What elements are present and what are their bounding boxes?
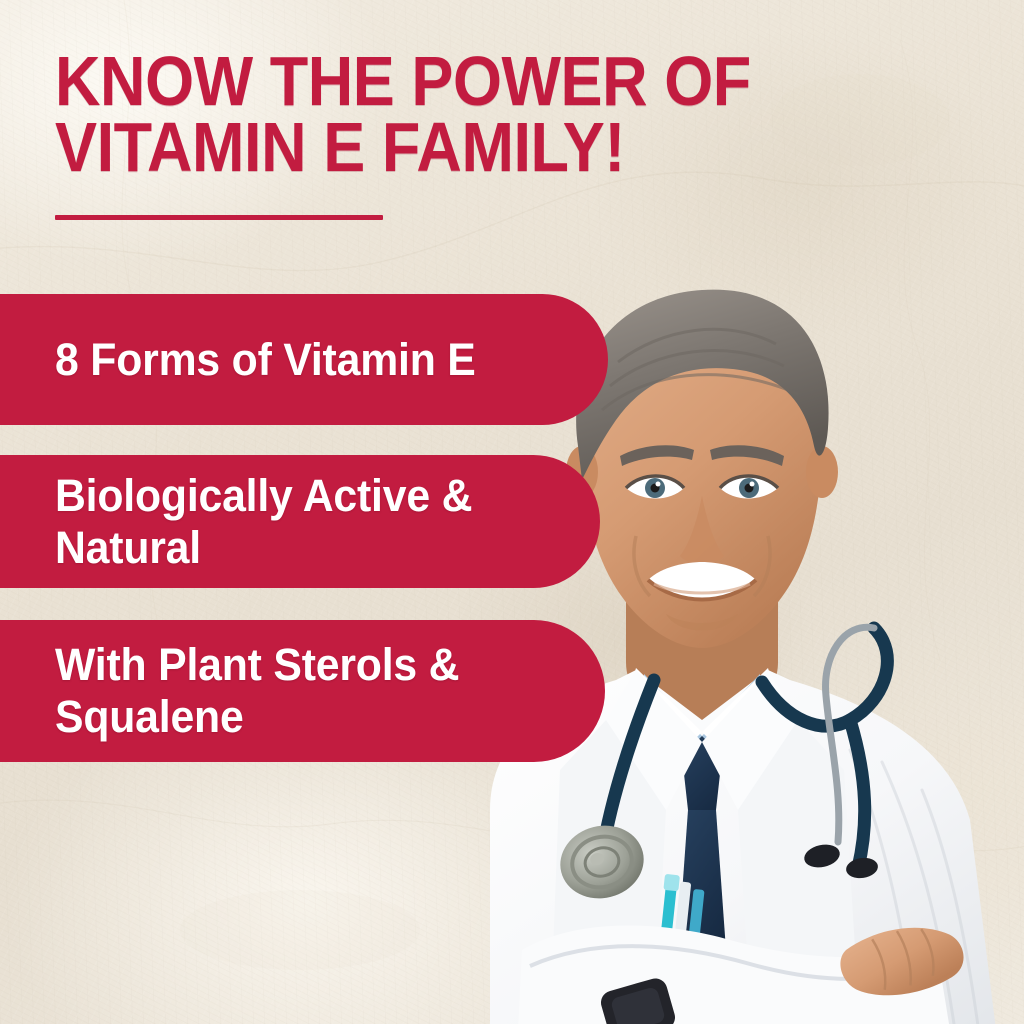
headline-line-1: KNOW THE POWER OF: [55, 48, 739, 114]
headline-line-2: VITAMIN E FAMILY!: [55, 114, 739, 180]
poster-canvas: KNOW THE POWER OF VITAMIN E FAMILY! 8 Fo…: [0, 0, 1024, 1024]
feature-pill-3: With Plant Sterols & Squalene: [0, 620, 605, 762]
feature-pill-1-label: 8 Forms of Vitamin E: [55, 334, 476, 386]
headline-underline-rule: [55, 215, 383, 220]
feature-pill-2-label: Biologically Active & Natural: [55, 470, 472, 574]
feature-pill-2: Biologically Active & Natural: [0, 455, 600, 588]
feature-pill-1: 8 Forms of Vitamin E: [0, 294, 608, 425]
headline: KNOW THE POWER OF VITAMIN E FAMILY!: [55, 48, 815, 180]
feature-pill-3-label: With Plant Sterols & Squalene: [55, 639, 459, 743]
